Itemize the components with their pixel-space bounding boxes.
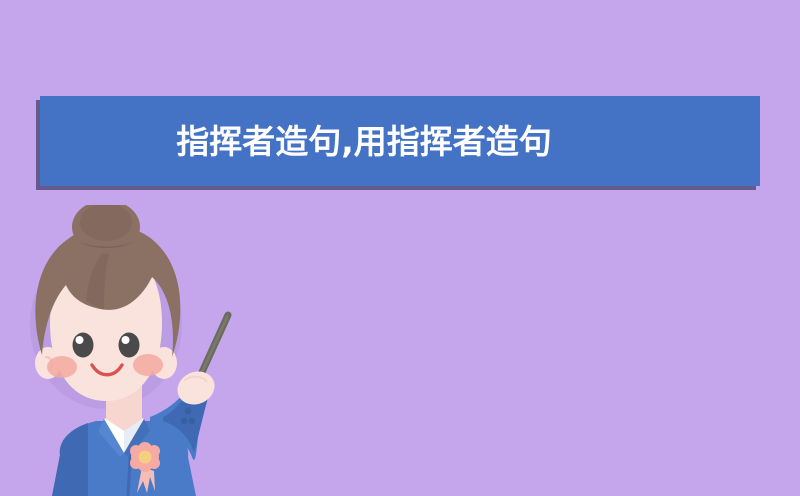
title-banner: 指挥者造句,用指挥者造句 xyxy=(40,96,760,186)
teacher-illustration xyxy=(0,205,280,496)
page-root: 指挥者造句,用指挥者造句 xyxy=(0,0,800,496)
teacher-illustration-svg xyxy=(0,205,280,496)
page-title: 指挥者造句,用指挥者造句 xyxy=(176,125,552,158)
